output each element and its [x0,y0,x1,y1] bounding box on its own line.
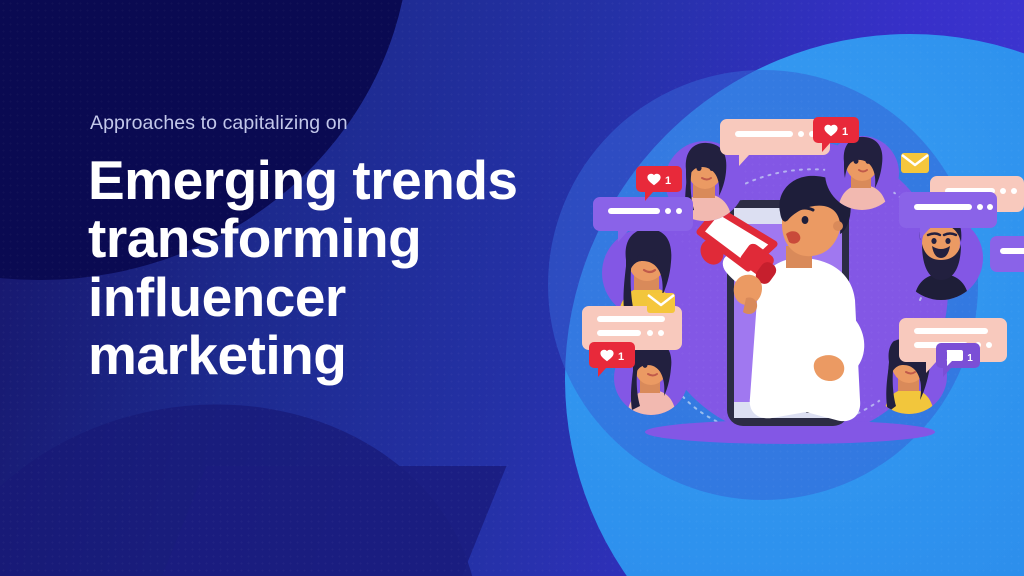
promo-banner: Approaches to capitalizing on Emerging t… [0,0,1024,576]
svg-text:1: 1 [967,353,973,364]
kicker-text: Approaches to capitalizing on [90,112,558,135]
svg-text:1: 1 [665,175,671,187]
bubble-far-right-purple [990,236,1024,272]
headline-line-1: Emerging trends [88,151,558,209]
headline-line-4: marketing [88,326,558,384]
svg-text:1: 1 [842,126,848,138]
mail-icon-right [901,153,929,173]
svg-text:1: 1 [618,351,624,363]
avatar-top-right [825,136,899,210]
headline-line-2: transforming [88,209,558,267]
headline-line-3: influencer [88,268,558,326]
page-title: Emerging trends transforming influencer … [88,151,558,384]
mail-icon-left [647,293,675,313]
headline-block: Approaches to capitalizing on Emerging t… [88,112,558,384]
